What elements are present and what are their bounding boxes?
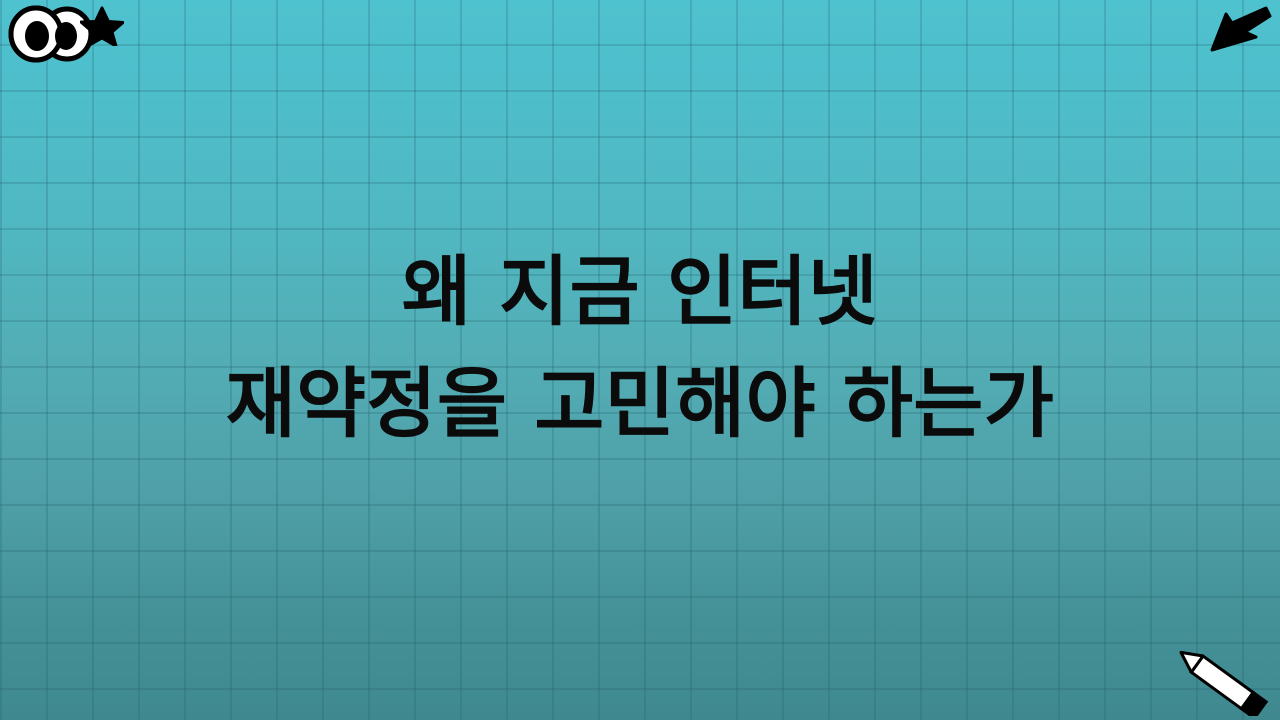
star-icon [80, 6, 124, 46]
thumbnail-canvas: 왜 지금 인터넷 재약정을 고민해야 하는가 [0, 0, 1280, 720]
pencil-icon [1164, 644, 1274, 716]
cursor-arrow-icon [1204, 2, 1272, 56]
page-title: 왜 지금 인터넷 재약정을 고민해야 하는가 [0, 236, 1280, 460]
title-line-2: 재약정을 고민해야 하는가 [226, 348, 1055, 460]
title-line-1: 왜 지금 인터넷 [402, 236, 878, 348]
